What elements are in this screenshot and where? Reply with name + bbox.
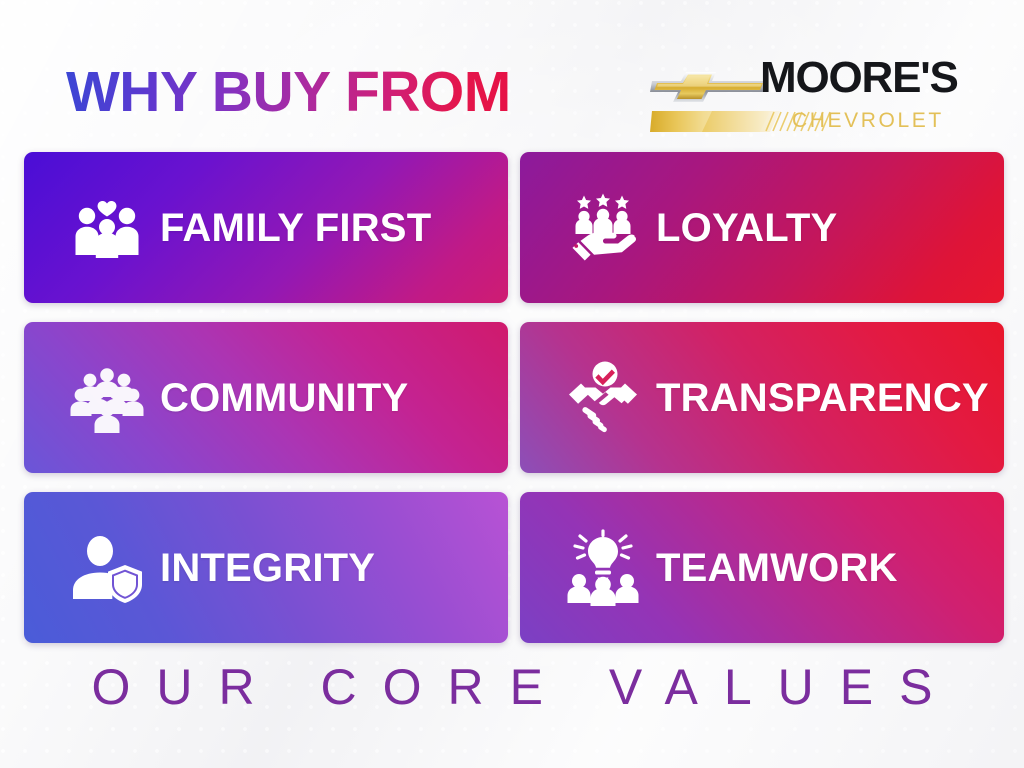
value-card-integrity[interactable]: INTEGRITY [24, 492, 508, 643]
value-card-label: LOYALTY [656, 208, 837, 248]
value-card-teamwork[interactable]: TEAMWORK [520, 492, 1004, 643]
brand-name: MOORE'S [760, 56, 958, 100]
sub-brand-name: CHEVROLET [792, 110, 944, 131]
value-card-label: COMMUNITY [160, 378, 408, 418]
people-group-icon [68, 359, 146, 437]
footer-tagline: OUR CORE VALUES [0, 662, 1024, 712]
poster-stage: WHY BUY FROM [0, 0, 1024, 768]
value-card-loyalty[interactable]: LOYALTY [520, 152, 1004, 303]
value-card-family-first[interactable]: FAMILY FIRST [24, 152, 508, 303]
footer: OUR CORE VALUES [0, 662, 1024, 712]
value-card-label: FAMILY FIRST [160, 208, 431, 248]
lightbulb-team-icon [564, 529, 642, 607]
person-shield-icon [68, 529, 146, 607]
value-card-label: TEAMWORK [656, 548, 898, 588]
value-card-label: INTEGRITY [160, 548, 375, 588]
core-values-grid: FAMILY FIRST [24, 152, 1000, 646]
page-title: WHY BUY FROM [66, 64, 511, 121]
value-card-community[interactable]: COMMUNITY [24, 322, 508, 473]
family-heart-icon [68, 189, 146, 267]
handshake-check-icon [564, 359, 642, 437]
hand-holding-people-stars-icon [564, 189, 642, 267]
value-card-label: TRANSPARENCY [656, 378, 989, 418]
value-card-transparency[interactable]: TRANSPARENCY [520, 322, 1004, 473]
chevrolet-bowtie-icon [650, 62, 770, 108]
header: WHY BUY FROM [0, 28, 1024, 128]
dealership-logo: MOORE'S [642, 54, 972, 140]
